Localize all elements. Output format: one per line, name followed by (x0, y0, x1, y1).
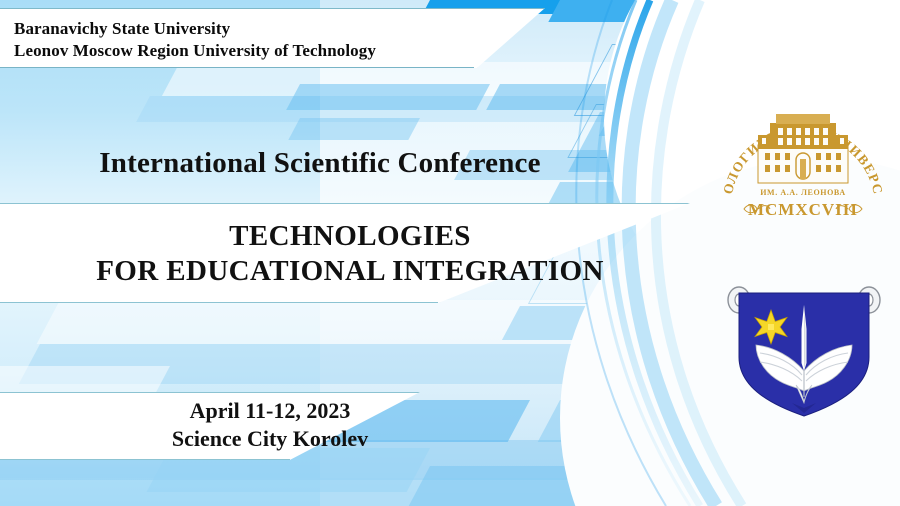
event-location: Science City Korolev (0, 425, 540, 453)
event-details: April 11-12, 2023 Science City Korolev (0, 397, 540, 453)
organizer-line-2: Leonov Moscow Region University of Techn… (14, 40, 376, 62)
event-dates: April 11-12, 2023 (0, 397, 540, 425)
leonov-university-seal: ТЕХНОЛОГИЧЕСКИЙ УНИВЕРСИТЕТ (718, 83, 888, 223)
seal-sub-text: ИМ. А.А. ЛЕОНОВА (760, 188, 846, 197)
organizer-names: Baranavichy State University Leonov Mosc… (14, 18, 376, 62)
title-line-2: FOR EDUCATIONAL INTEGRATION (0, 254, 700, 289)
page-title: TECHNOLOGIES FOR EDUCATIONAL INTEGRATION (0, 219, 700, 289)
event-banner-bottom-line (0, 459, 290, 460)
background-shard-blue-6 (288, 118, 420, 140)
organizer-banner-underline (0, 67, 474, 68)
conference-title-slide: ТЕХНОЛОГИЧЕСКИЙ УНИВЕРСИТЕТ (0, 0, 900, 506)
conference-kind: International Scientific Conference (0, 147, 640, 180)
main-title-banner-bottom-line (0, 302, 438, 303)
background-shard-blue-16 (0, 366, 170, 396)
title-line-1: TECHNOLOGIES (0, 219, 700, 254)
seal-building (758, 114, 848, 183)
event-banner-top-line (0, 392, 420, 393)
organizer-line-1: Baranavichy State University (14, 18, 376, 40)
main-title-banner-top-line (0, 203, 690, 204)
seal-year-roman: MCMXCVIII (748, 200, 858, 219)
baranavichy-coat-of-arms (726, 285, 882, 420)
background-shard-blue-3 (286, 84, 490, 110)
